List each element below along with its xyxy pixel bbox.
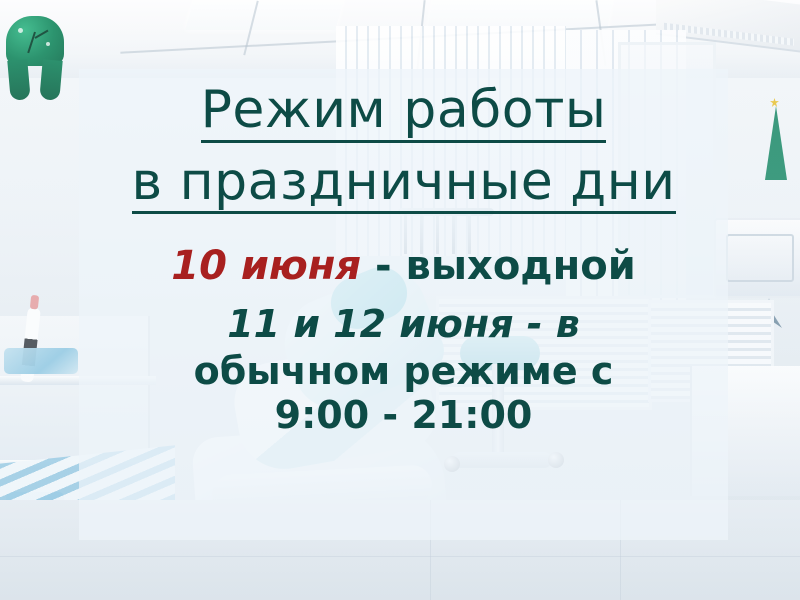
holiday-date: 10 июня: [171, 243, 361, 289]
schedule-line-open-days: 11 и 12 июня - в: [79, 303, 728, 346]
schedule-block: 10 июня - выходной 11 и 12 июня - в обыч…: [79, 244, 728, 436]
title-line-1-text: Режим работы: [201, 83, 607, 143]
holiday-status: - выходной: [361, 243, 636, 289]
poster-title-line-1: Режим работы: [79, 83, 728, 143]
title-line-2-text: в праздничные дни: [132, 155, 676, 215]
poster-text: Режим работы в праздничные дни 10 июня -…: [79, 69, 728, 540]
schedule-line-day-off: 10 июня - выходной: [79, 244, 728, 289]
poster-title-line-2: в праздничные дни: [79, 155, 728, 215]
schedule-line-open-hours: 9:00 - 21:00: [79, 394, 728, 437]
schedule-line-open-mode: обычном режиме с: [79, 350, 728, 393]
holiday-hours-poster: Режим работы в праздничные дни 10 июня -…: [0, 0, 800, 600]
